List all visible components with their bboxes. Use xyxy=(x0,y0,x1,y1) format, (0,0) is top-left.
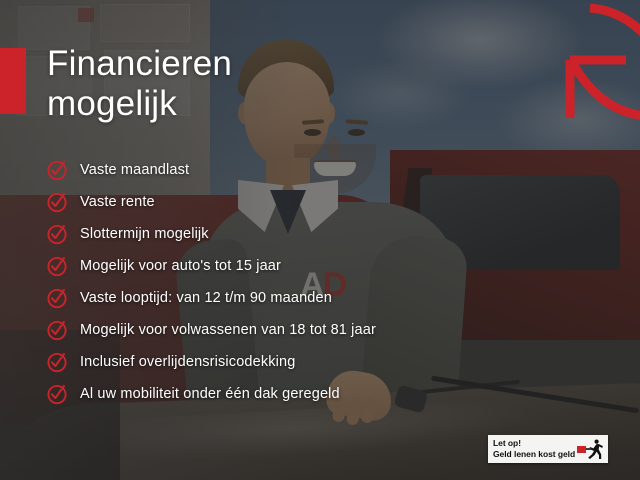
list-item-label: Inclusief overlijdensrisicodekking xyxy=(80,354,295,370)
list-item-label: Vaste rente xyxy=(80,194,155,210)
check-circle-icon xyxy=(46,383,68,405)
list-item-label: Al uw mobiliteit onder één dak geregeld xyxy=(80,386,340,402)
list-item: Inclusief overlijdensrisicodekking xyxy=(46,346,376,378)
list-item-label: Vaste looptijd: van 12 t/m 90 maanden xyxy=(80,290,332,306)
red-accent-block xyxy=(0,48,26,114)
warning-text: Let op! Geld lenen kost geld xyxy=(493,438,577,460)
list-item: Vaste maandlast xyxy=(46,154,376,186)
benefits-list: Vaste maandlast Vaste rente Slottermijn … xyxy=(46,154,376,410)
list-item-label: Slottermijn mogelijk xyxy=(80,226,209,242)
list-item: Vaste rente xyxy=(46,186,376,218)
check-circle-icon xyxy=(46,159,68,181)
list-item: Slottermijn mogelijk xyxy=(46,218,376,250)
check-circle-icon xyxy=(46,255,68,277)
check-circle-icon xyxy=(46,223,68,245)
list-item-label: Mogelijk voor volwassenen van 18 tot 81 … xyxy=(80,322,376,338)
red-arc-arrow-icon xyxy=(554,0,640,122)
red-marker-icon xyxy=(577,446,586,453)
list-item: Mogelijk voor auto's tot 15 jaar xyxy=(46,250,376,282)
check-circle-icon xyxy=(46,351,68,373)
check-circle-icon xyxy=(46,319,68,341)
status-badge: Let op! Geld lenen kost geld xyxy=(488,435,608,463)
financing-promo-banner: AD Financieren mogelijk Vaste maandlast xyxy=(0,0,640,480)
list-item-label: Mogelijk voor auto's tot 15 jaar xyxy=(80,258,281,274)
list-item: Vaste looptijd: van 12 t/m 90 maanden xyxy=(46,282,376,314)
list-item-label: Vaste maandlast xyxy=(80,162,189,178)
list-item: Mogelijk voor volwassenen van 18 tot 81 … xyxy=(46,314,376,346)
warning-icons xyxy=(577,439,603,459)
page-title: Financieren mogelijk xyxy=(47,44,232,124)
check-circle-icon xyxy=(46,191,68,213)
check-circle-icon xyxy=(46,287,68,309)
list-item: Al uw mobiliteit onder één dak geregeld xyxy=(46,378,376,410)
